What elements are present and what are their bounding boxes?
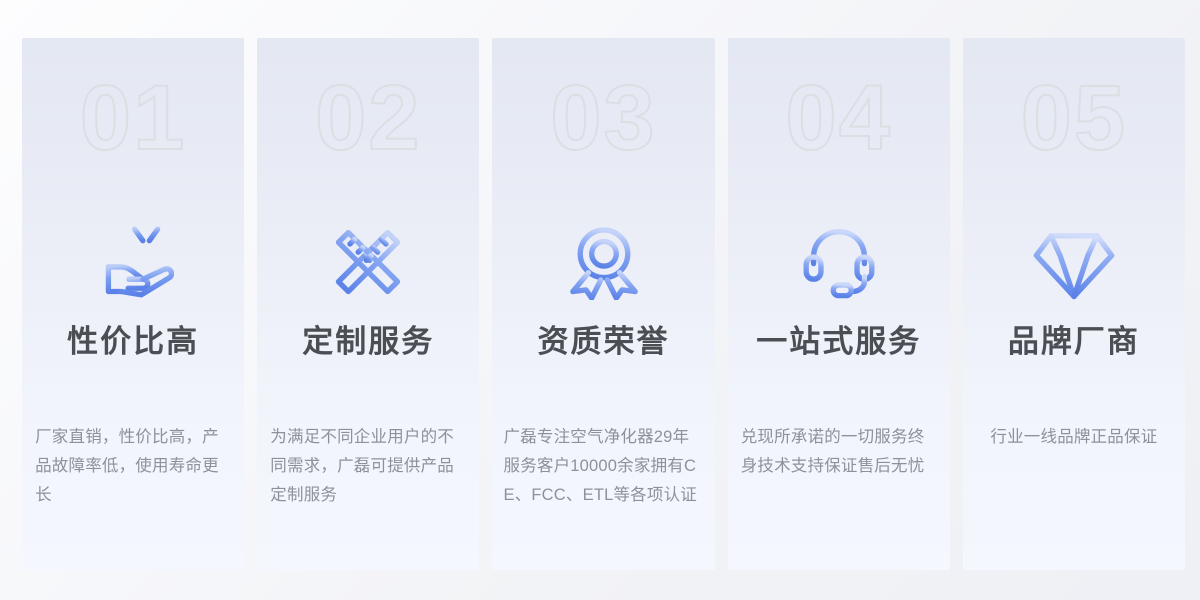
card-title: 品牌厂商 [1008,316,1140,361]
hand-holding-yuan-icon [92,224,174,300]
card-description-wrap: 为满足不同企业用户的不同需求，广磊可提供产品定制服务 [257,423,479,510]
advantage-card[interactable]: 04 [728,38,950,570]
advantage-card[interactable]: 03 [492,38,714,570]
card-description: 行业一线品牌正品保证 [971,423,1176,452]
card-index-number: 04 [786,70,892,166]
diamond-icon [1033,224,1115,300]
headset-icon [798,224,880,300]
card-title: 一站式服务 [756,316,921,361]
card-index-number: 05 [1021,70,1127,166]
card-description-wrap: 广磊专注空气净化器29年服务客户10000余家拥有CE、FCC、ETL等各项认证 [492,423,714,510]
card-title: 资质荣誉 [538,316,670,361]
card-description: 广磊专注空气净化器29年服务客户10000余家拥有CE、FCC、ETL等各项认证 [504,423,704,510]
advantages-section: 01 [0,0,1200,600]
card-index-number: 03 [550,70,656,166]
card-description: 兑现所承诺的一切服务终身技术支持保证售后无忧 [741,423,937,481]
card-description-wrap: 兑现所承诺的一切服务终身技术支持保证售后无忧 [728,423,950,481]
card-description: 厂家直销，性价比高，产品故障率低，使用寿命更长 [35,423,231,510]
card-description-wrap: 厂家直销，性价比高，产品故障率低，使用寿命更长 [22,423,244,510]
card-title: 性价比高 [67,316,199,361]
advantage-card[interactable]: 01 [22,38,244,570]
advantage-card[interactable]: 02 [257,38,479,570]
pen-and-ruler-icon [327,224,409,300]
card-title: 定制服务 [302,316,434,361]
award-medal-icon [563,224,645,300]
card-description: 为满足不同企业用户的不同需求，广磊可提供产品定制服务 [270,423,466,510]
card-index-number: 02 [315,70,421,166]
advantage-card[interactable]: 05 [963,38,1185,570]
card-index-number: 01 [80,70,186,166]
card-description-wrap: 行业一线品牌正品保证 [963,423,1185,452]
advantage-card-list: 01 [22,38,1185,570]
